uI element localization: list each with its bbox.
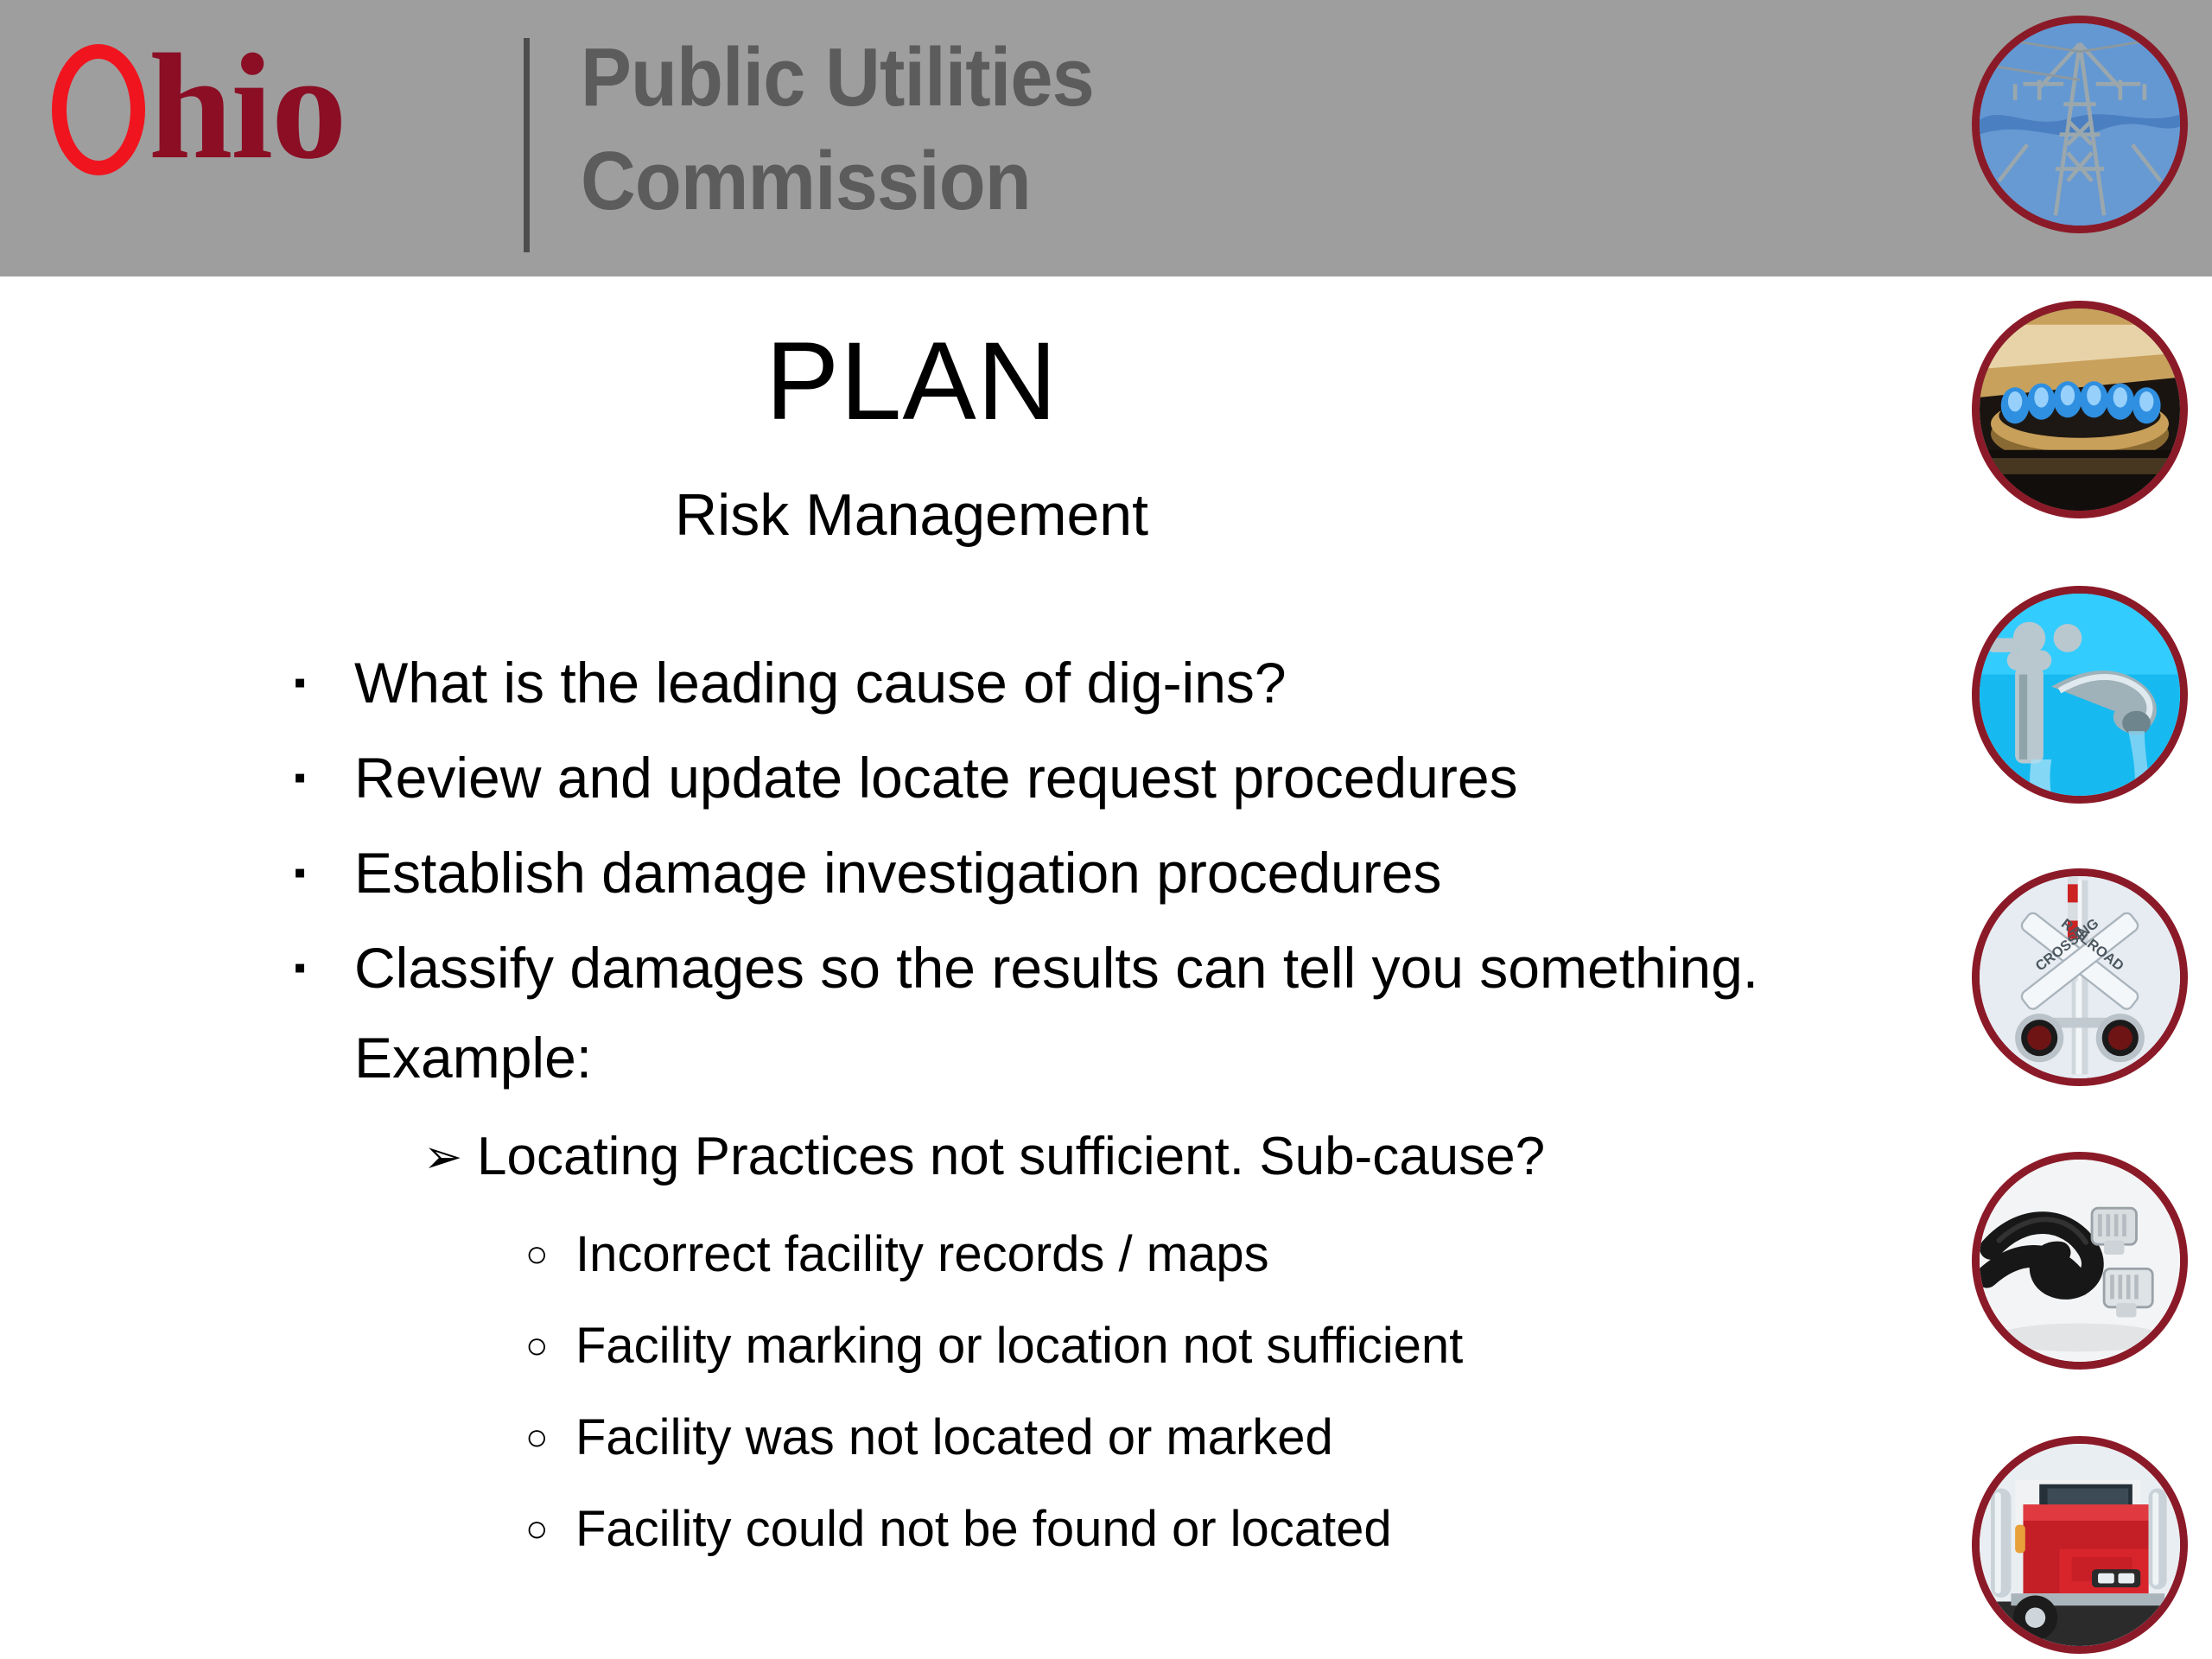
bullet-item: ○Incorrect facility records / maps: [0, 1210, 1866, 1300]
bullet-text: Establish damage investigation procedure…: [354, 828, 1866, 918]
bullet-text: Facility was not located or marked: [575, 1393, 1866, 1483]
header-bar: hio Public Utilities Commission: [0, 0, 2212, 276]
arrow-bullet: ➢: [423, 1113, 477, 1201]
bullet-item: ▪Establish damage investigation procedur…: [0, 828, 1866, 918]
bullet-text: Incorrect facility records / maps: [575, 1210, 1866, 1300]
bullet-text: What is the leading cause of dig-ins?: [354, 638, 1866, 728]
slide-canvas: hio Public Utilities Commission PLAN Ris…: [0, 0, 2212, 1659]
bullet-text: Classify damages so the results can tell…: [354, 923, 1866, 1103]
bullet-text: Facility could not be found or located: [575, 1484, 1866, 1574]
square-bullet: ▪: [294, 733, 354, 823]
agency-title-line-2: Commission: [581, 130, 1094, 233]
bullet-text: Facility marking or location not suffici…: [575, 1301, 1866, 1391]
ohio-logo-o-ring: [52, 44, 145, 175]
image-rail: RAILROAD CROSSING: [1953, 0, 2212, 1659]
bullet-text: Review and update locate request procedu…: [354, 733, 1866, 823]
bullet-item: ▪Classify damages so the results can tel…: [0, 923, 1866, 1103]
trucking-semi-truck-icon: [1972, 1436, 2188, 1654]
bullet-item: ○Facility could not be found or located: [0, 1484, 1866, 1574]
bullet-item: ▪What is the leading cause of dig-ins?: [0, 638, 1866, 728]
circle-bullet: ○: [525, 1484, 575, 1574]
circle-bullet: ○: [525, 1210, 575, 1300]
square-bullet: ▪: [294, 638, 354, 728]
circle-bullet: ○: [525, 1301, 575, 1391]
ohio-logo: hio: [52, 24, 345, 188]
bullet-text: Locating Practices not sufficient. Sub-c…: [477, 1113, 1866, 1201]
bullet-item: ▪Review and update locate request proced…: [0, 733, 1866, 823]
page-subtitle: Risk Management: [372, 484, 1452, 546]
bullet-item: ○Facility was not located or marked: [0, 1393, 1866, 1483]
circle-bullet: ○: [525, 1393, 575, 1483]
ohio-logo-wordmark: hio: [149, 41, 345, 171]
header-divider: [524, 38, 530, 252]
bullet-item: ➢Locating Practices not sufficient. Sub-…: [0, 1113, 1866, 1201]
gas-burner-flame-icon: [1972, 301, 2188, 518]
telecom-cable-icon: [1972, 1152, 2188, 1370]
railroad-crossing-icon: RAILROAD CROSSING: [1972, 868, 2188, 1086]
agency-title: Public Utilities Commission: [581, 26, 1094, 233]
page-title: PLAN: [372, 327, 1452, 437]
square-bullet: ▪: [294, 923, 354, 1013]
square-bullet: ▪: [294, 828, 354, 918]
agency-title-line-1: Public Utilities: [581, 26, 1094, 130]
bullet-item: ○Facility marking or location not suffic…: [0, 1301, 1866, 1391]
water-faucet-icon: [1972, 586, 2188, 804]
electric-transmission-tower-icon: [1972, 16, 2188, 233]
bullet-list: ▪What is the leading cause of dig-ins?▪R…: [0, 638, 1866, 1576]
